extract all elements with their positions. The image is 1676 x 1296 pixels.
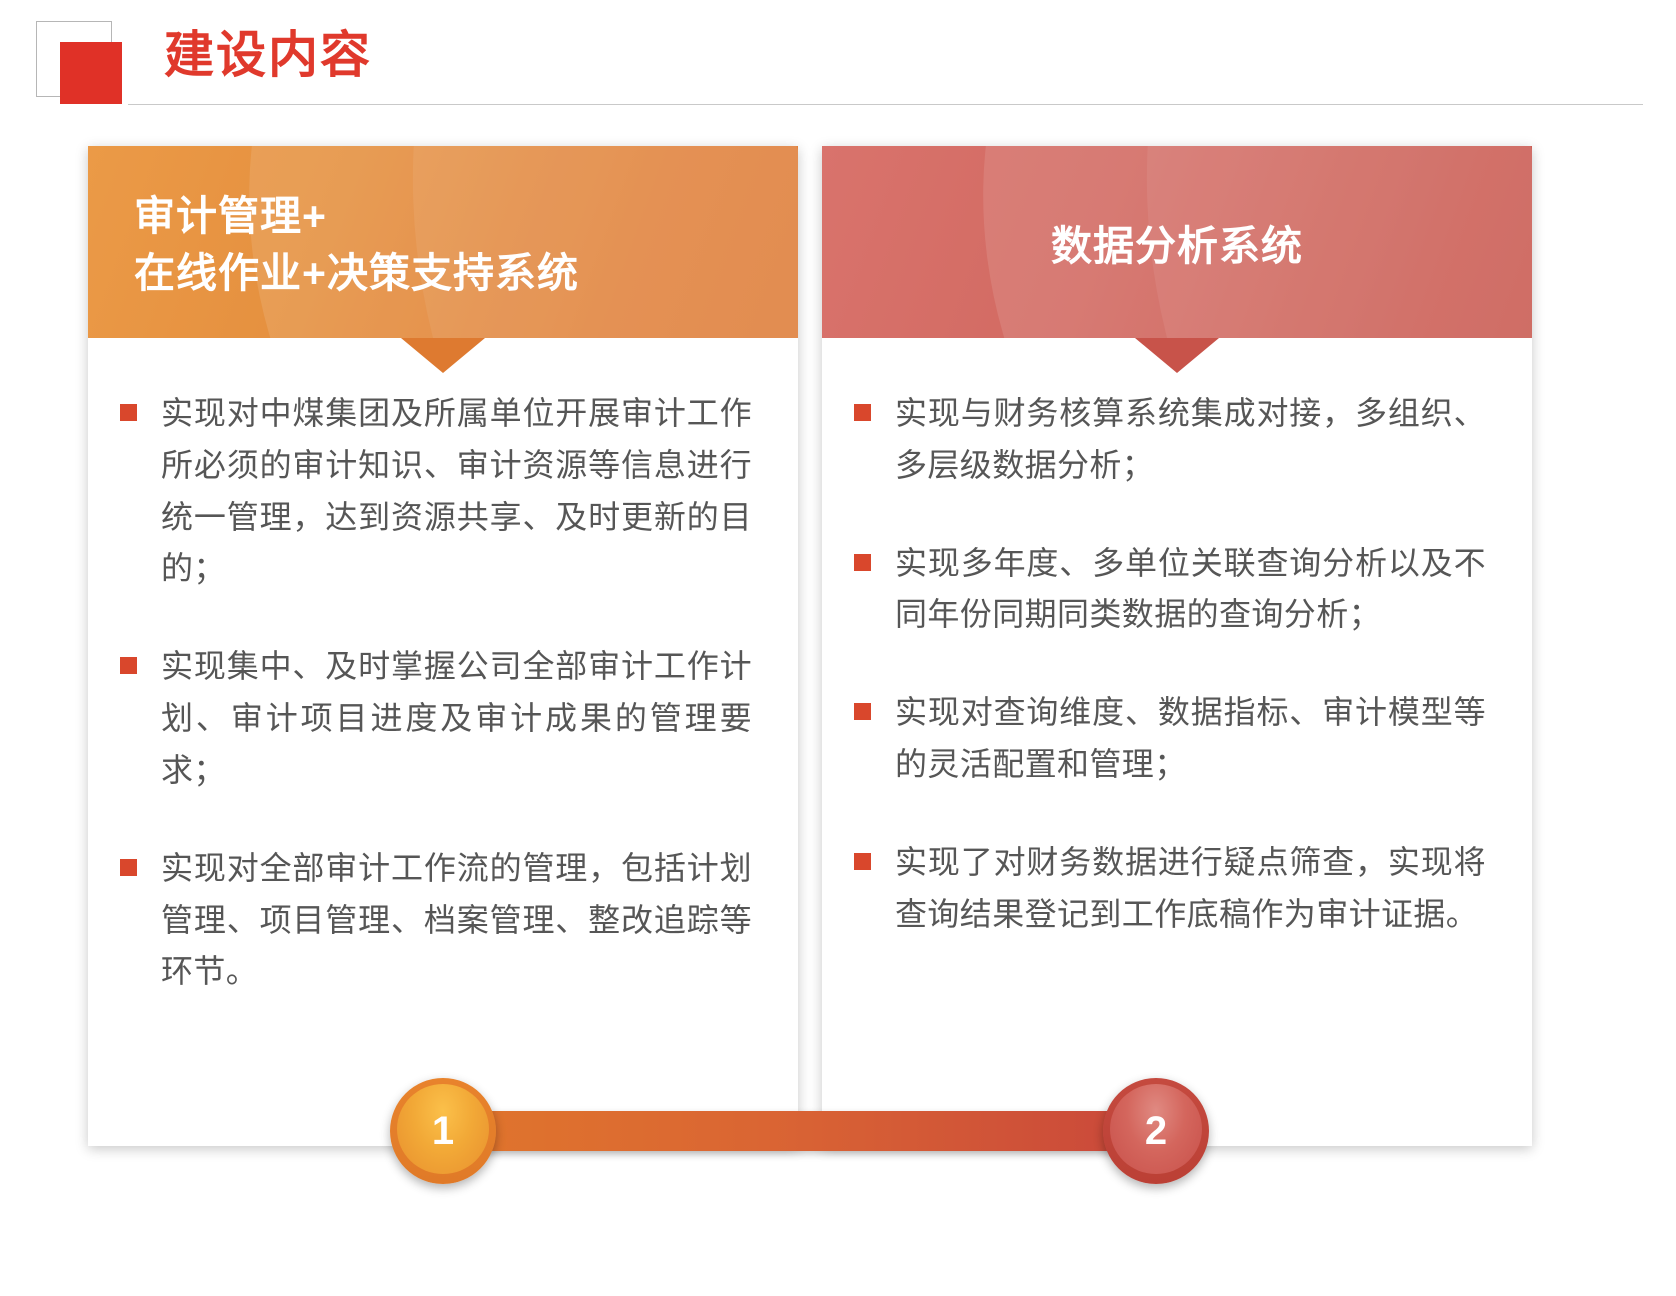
list-item-text: 实现了对财务数据进行疑点筛查，实现将查询结果登记到工作底稿作为审计证据。 <box>895 837 1486 941</box>
list-item: 实现了对财务数据进行疑点筛查，实现将查询结果登记到工作底稿作为审计证据。 <box>854 837 1486 941</box>
card-audit-management: 审计管理+ 在线作业+决策支持系统 实现对中煤集团及所属单位开展审计工作所必须的… <box>88 146 798 1146</box>
list-item-text: 实现对全部审计工作流的管理，包括计划管理、项目管理、档案管理、整改追踪等环节。 <box>161 843 752 998</box>
card-header-audit-management: 审计管理+ 在线作业+决策支持系统 <box>88 146 798 338</box>
bullet-square-icon <box>854 853 871 870</box>
slide-header: 建设内容 <box>0 0 1676 120</box>
list-item-text: 实现对中煤集团及所属单位开展审计工作所必须的审计知识、审计资源等信息进行统一管理… <box>161 388 752 595</box>
card-header-notch-icon <box>401 338 485 373</box>
list-item: 实现多年度、多单位关联查询分析以及不同年份同期同类数据的查询分析； <box>854 538 1486 642</box>
connector-bar <box>443 1111 1159 1151</box>
step-badge-2-label: 2 <box>1145 1109 1167 1154</box>
card-title: 数据分析系统 <box>822 218 1532 275</box>
bullet-square-icon <box>854 554 871 571</box>
list-item-text: 实现对查询维度、数据指标、审计模型等的灵活配置和管理； <box>895 687 1486 791</box>
list-item: 实现对查询维度、数据指标、审计模型等的灵活配置和管理； <box>854 687 1486 791</box>
list-item-text: 实现集中、及时掌握公司全部审计工作计划、审计项目进度及审计成果的管理要求； <box>161 641 752 796</box>
list-item: 实现对中煤集团及所属单位开展审计工作所必须的审计知识、审计资源等信息进行统一管理… <box>120 388 752 595</box>
list-item-text: 实现多年度、多单位关联查询分析以及不同年份同期同类数据的查询分析； <box>895 538 1486 642</box>
bullet-square-icon <box>120 404 137 421</box>
decor-square-filled-icon <box>60 42 122 104</box>
card-data-analysis: 数据分析系统 实现与财务核算系统集成对接，多组织、多层级数据分析； 实现多年度、… <box>822 146 1532 1146</box>
list-item: 实现集中、及时掌握公司全部审计工作计划、审计项目进度及审计成果的管理要求； <box>120 641 752 796</box>
bullet-square-icon <box>854 703 871 720</box>
list-item-text: 实现与财务核算系统集成对接，多组织、多层级数据分析； <box>895 388 1486 492</box>
page-title: 建设内容 <box>164 30 372 80</box>
bullet-list-data-analysis: 实现与财务核算系统集成对接，多组织、多层级数据分析； 实现多年度、多单位关联查询… <box>822 388 1532 987</box>
card-header-notch-icon <box>1135 338 1219 373</box>
bullet-square-icon <box>854 404 871 421</box>
list-item: 实现对全部审计工作流的管理，包括计划管理、项目管理、档案管理、整改追踪等环节。 <box>120 843 752 998</box>
card-title: 审计管理+ 在线作业+决策支持系统 <box>134 188 579 301</box>
card-header-data-analysis: 数据分析系统 <box>822 146 1532 338</box>
step-badge-1-label: 1 <box>432 1109 454 1154</box>
list-item: 实现与财务核算系统集成对接，多组织、多层级数据分析； <box>854 388 1486 492</box>
bullet-square-icon <box>120 859 137 876</box>
header-divider <box>128 104 1643 105</box>
bullet-square-icon <box>120 657 137 674</box>
bullet-list-audit-management: 实现对中煤集团及所属单位开展审计工作所必须的审计知识、审计资源等信息进行统一管理… <box>88 388 798 1044</box>
step-badge-2: 2 <box>1103 1078 1209 1184</box>
step-badge-1: 1 <box>390 1078 496 1184</box>
